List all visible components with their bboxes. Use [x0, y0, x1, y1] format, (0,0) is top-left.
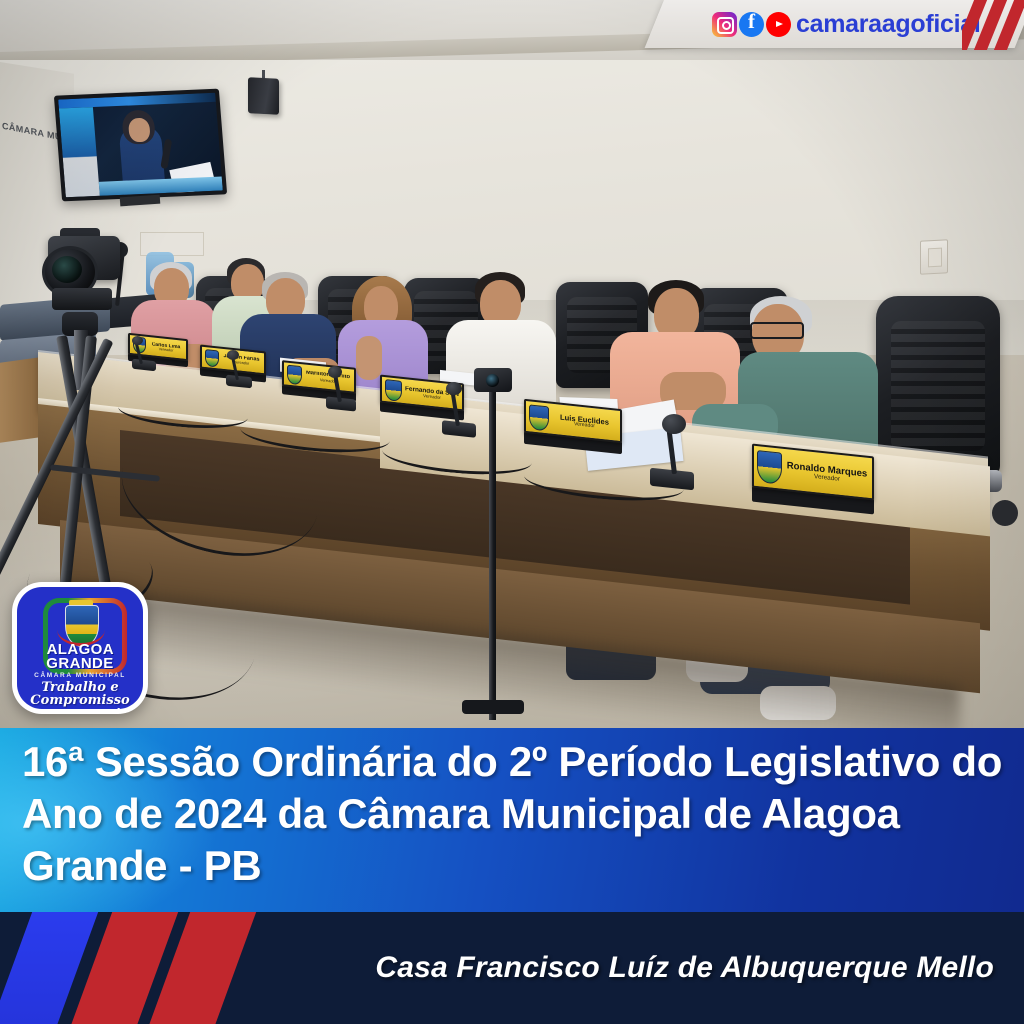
logo-city-name: ALAGOA GRANDE [17, 643, 143, 671]
social-handle-text: camaraagoficial [796, 10, 981, 39]
arm [356, 336, 382, 380]
facebook-icon[interactable] [739, 12, 764, 37]
tv-speaker-face [128, 118, 151, 143]
microphone-capsule [132, 336, 143, 345]
eyeglasses [750, 322, 804, 339]
microphone-capsule [227, 350, 239, 360]
city-council-logo: ALAGOA GRANDE CÂMARA MUNICIPAL Trabalho … [12, 582, 148, 714]
tv-microphone [160, 139, 172, 170]
microphone-capsule [328, 366, 342, 378]
wall-speaker [248, 77, 279, 115]
youtube-icon[interactable] [766, 12, 791, 37]
coat-of-arms-icon [205, 349, 219, 367]
tv-side-panel [59, 107, 100, 197]
coat-of-arms-icon [287, 364, 302, 385]
coat-of-arms-icon [529, 404, 549, 431]
session-announcement-image: CÂMARA MUNICIPAL FRANCISCO LUIZ DE OLIVE… [0, 0, 1024, 1024]
logo-city-line2: GRANDE [46, 655, 113, 672]
tv-lower-third [58, 93, 216, 109]
monopod-foot [462, 700, 524, 714]
camera-battery-grip [52, 288, 112, 310]
wooden-lectern [0, 357, 40, 443]
coat-of-arms-icon [385, 379, 402, 402]
logo-subtitle: CÂMARA MUNICIPAL [17, 672, 143, 679]
tv-desk [99, 176, 223, 195]
logo-background: ALAGOA GRANDE CÂMARA MUNICIPAL Trabalho … [17, 587, 143, 709]
venue-bar: Casa Francisco Luíz de Albuquerque Mello [0, 912, 1024, 1024]
coat-of-arms-icon [757, 450, 782, 485]
instagram-icon[interactable] [712, 12, 737, 37]
session-title: 16ª Sessão Ordinária do 2º Período Legis… [22, 736, 1012, 892]
action-camera-lens [486, 374, 499, 387]
title-banner: 16ª Sessão Ordinária do 2º Período Legis… [0, 728, 1024, 918]
social-handle-group: camaraagoficial [712, 4, 962, 44]
camera-monopod [489, 390, 496, 720]
microphone-capsule [662, 414, 686, 434]
logo-tagline: Trabalho e Compromisso com o povo! [17, 681, 143, 709]
logo-tagline-line1: Trabalho e Compromisso [17, 681, 143, 707]
camera-front-element [52, 256, 82, 283]
top-accent-stripes [962, 0, 1024, 50]
chair-caster [992, 500, 1018, 526]
venue-name: Casa Francisco Luíz de Albuquerque Mello [0, 912, 994, 1024]
microphone-capsule [446, 382, 462, 395]
light-switch [920, 239, 948, 274]
tv-screen [58, 93, 223, 198]
wall-tv [54, 89, 227, 202]
